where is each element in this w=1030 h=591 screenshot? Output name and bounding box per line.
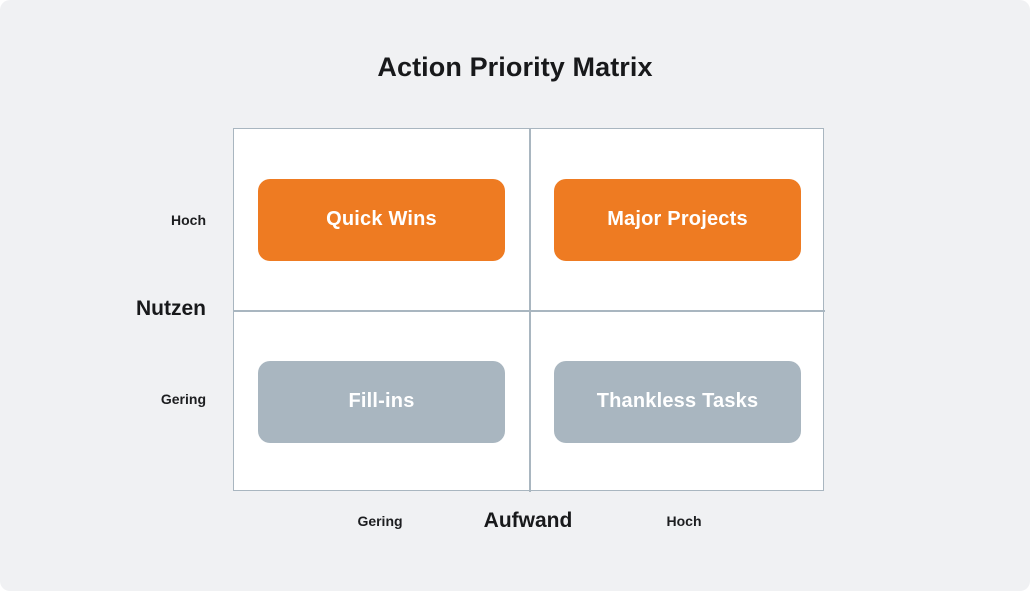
- quadrant-box-fill-ins[interactable]: Fill-ins: [258, 361, 505, 443]
- quadrant-box-major-projects[interactable]: Major Projects: [554, 179, 801, 261]
- y-axis-tick-high: Hoch: [0, 212, 206, 228]
- x-axis-tick-high: Hoch: [614, 513, 754, 529]
- quadrant-cell-bottom-right: Thankless Tasks: [530, 311, 825, 492]
- y-axis-title: Nutzen: [0, 297, 206, 321]
- matrix-plot-area: Quick Wins Major Projects Fill-ins Thank…: [233, 128, 824, 491]
- y-axis-tick-low: Gering: [0, 391, 206, 407]
- quadrant-cell-bottom-left: Fill-ins: [234, 311, 529, 492]
- x-axis-tick-low: Gering: [310, 513, 450, 529]
- quadrant-box-thankless-tasks[interactable]: Thankless Tasks: [554, 361, 801, 443]
- quadrant-cell-top-left: Quick Wins: [234, 129, 529, 310]
- action-priority-matrix-diagram: Action Priority Matrix Nutzen Hoch Gerin…: [0, 0, 1030, 591]
- page-title: Action Priority Matrix: [0, 52, 1030, 83]
- quadrant-box-quick-wins[interactable]: Quick Wins: [258, 179, 505, 261]
- quadrant-cell-top-right: Major Projects: [530, 129, 825, 310]
- x-axis-title: Aufwand: [428, 509, 628, 533]
